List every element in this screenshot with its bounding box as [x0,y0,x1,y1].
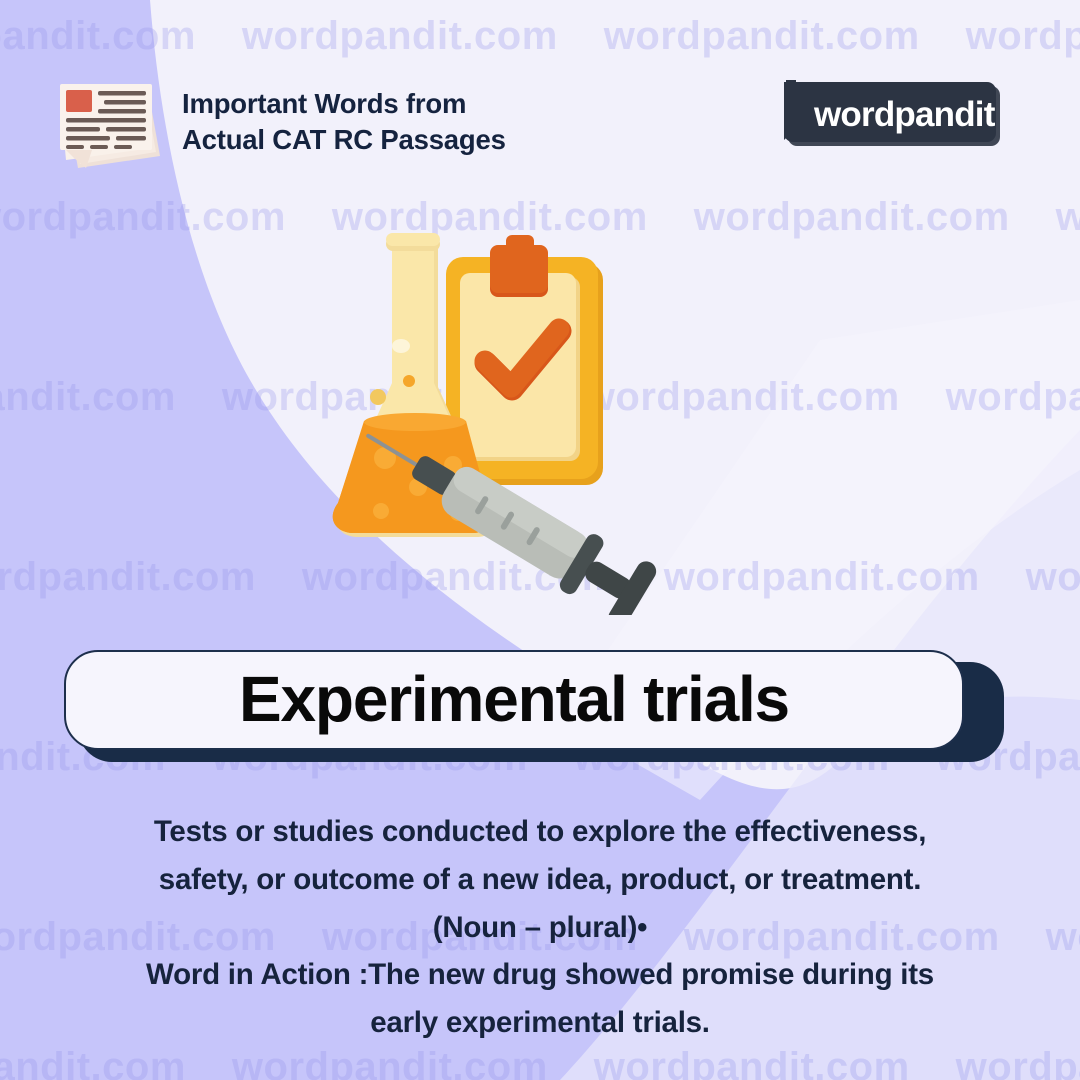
word-in-action-line-1: Word in Action :The new drug showed prom… [26,951,1054,999]
word-card-body: Experimental trials [64,650,964,750]
header: Important Words from Actual CAT RC Passa… [52,72,506,172]
definition-block: Tests or studies conducted to explore th… [0,808,1080,1047]
definition-line-2: safety, or outcome of a new idea, produc… [26,856,1054,904]
word-card: Experimental trials [64,650,994,756]
word-title: Experimental trials [239,667,789,731]
header-title: Important Words from Actual CAT RC Passa… [182,86,506,159]
wordpandit-logo[interactable]: wordpandit [780,80,1002,148]
experimental-trials-illustration [268,215,668,615]
newspaper-icon [52,72,168,172]
word-in-action-line-2: early experimental trials. [26,999,1054,1047]
header-title-line1: Important Words from [182,88,466,119]
logo-text: wordpandit [813,95,996,134]
part-of-speech: (Noun – plural)• [26,904,1054,952]
header-title-line2: Actual CAT RC Passages [182,122,506,158]
poster-stage: wordpandit.comwordpandit.comwordpandit.c… [0,0,1080,1080]
definition-line-1: Tests or studies conducted to explore th… [26,808,1054,856]
